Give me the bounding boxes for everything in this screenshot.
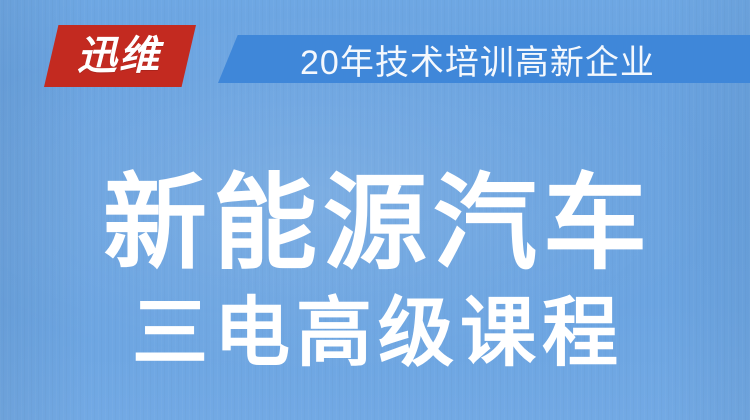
header-banner-text: 20年技术培训高新企业 [300, 33, 700, 85]
brand-logo-badge: 迅维 [44, 25, 196, 87]
brand-logo-text: 迅维 [77, 36, 161, 76]
promo-poster: 迅维 20年技术培训高新企业 新能源汽车 三电高级课程 [0, 0, 750, 420]
poster-headline: 新能源汽车 [0, 172, 750, 276]
poster-subheadline: 三电高级课程 [0, 296, 750, 372]
